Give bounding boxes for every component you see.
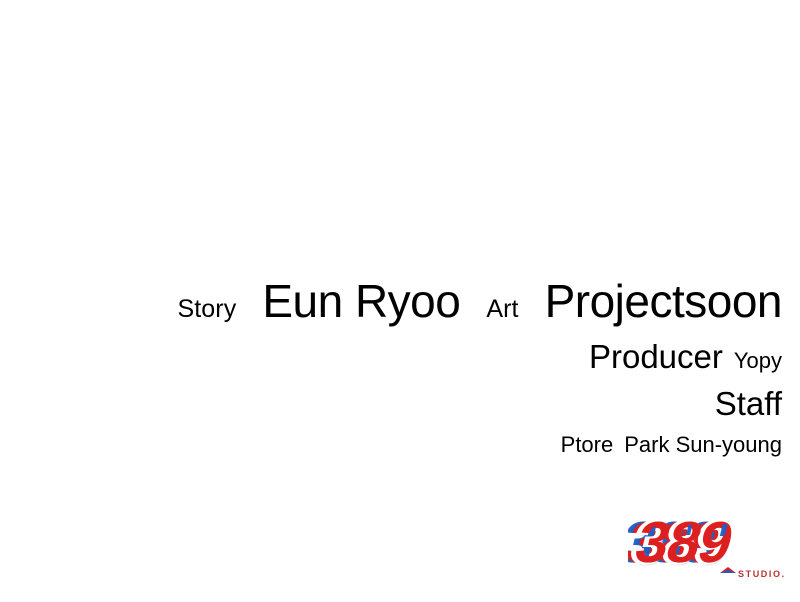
credit-name-art: Projectsoon [545,275,782,327]
credit-role-art: Art [486,295,518,323]
credit-line-producer: ProducerYopy [0,340,782,373]
credit-line-story-art: StoryEun RyooArtProjectsoon [0,278,782,324]
credit-line-ptore: PtorePark Sun-young [0,434,782,456]
credit-name-story: Eun Ryoo [262,275,460,327]
credit-name-producer: Yopy [734,348,782,373]
credit-role-ptore: Ptore [561,432,614,457]
logo-wordmark-text: STUDIO. [738,569,786,579]
logo-digits: 389 [629,511,739,575]
credit-role-story: Story [177,295,236,323]
studio-logo: 389 389 389 389 389 389 [628,503,788,591]
credit-heading-staff: Staff [715,385,782,422]
credits-list: StoryEun RyooArtProjectsoon ProducerYopy… [0,278,782,456]
credits-screen: StoryEun RyooArtProjectsoon ProducerYopy… [0,0,800,602]
credit-name-ptore: Park Sun-young [624,432,782,457]
credit-line-staff: Staff [0,387,782,420]
svg-text:389: 389 [629,511,739,575]
credit-role-producer: Producer [589,338,723,375]
